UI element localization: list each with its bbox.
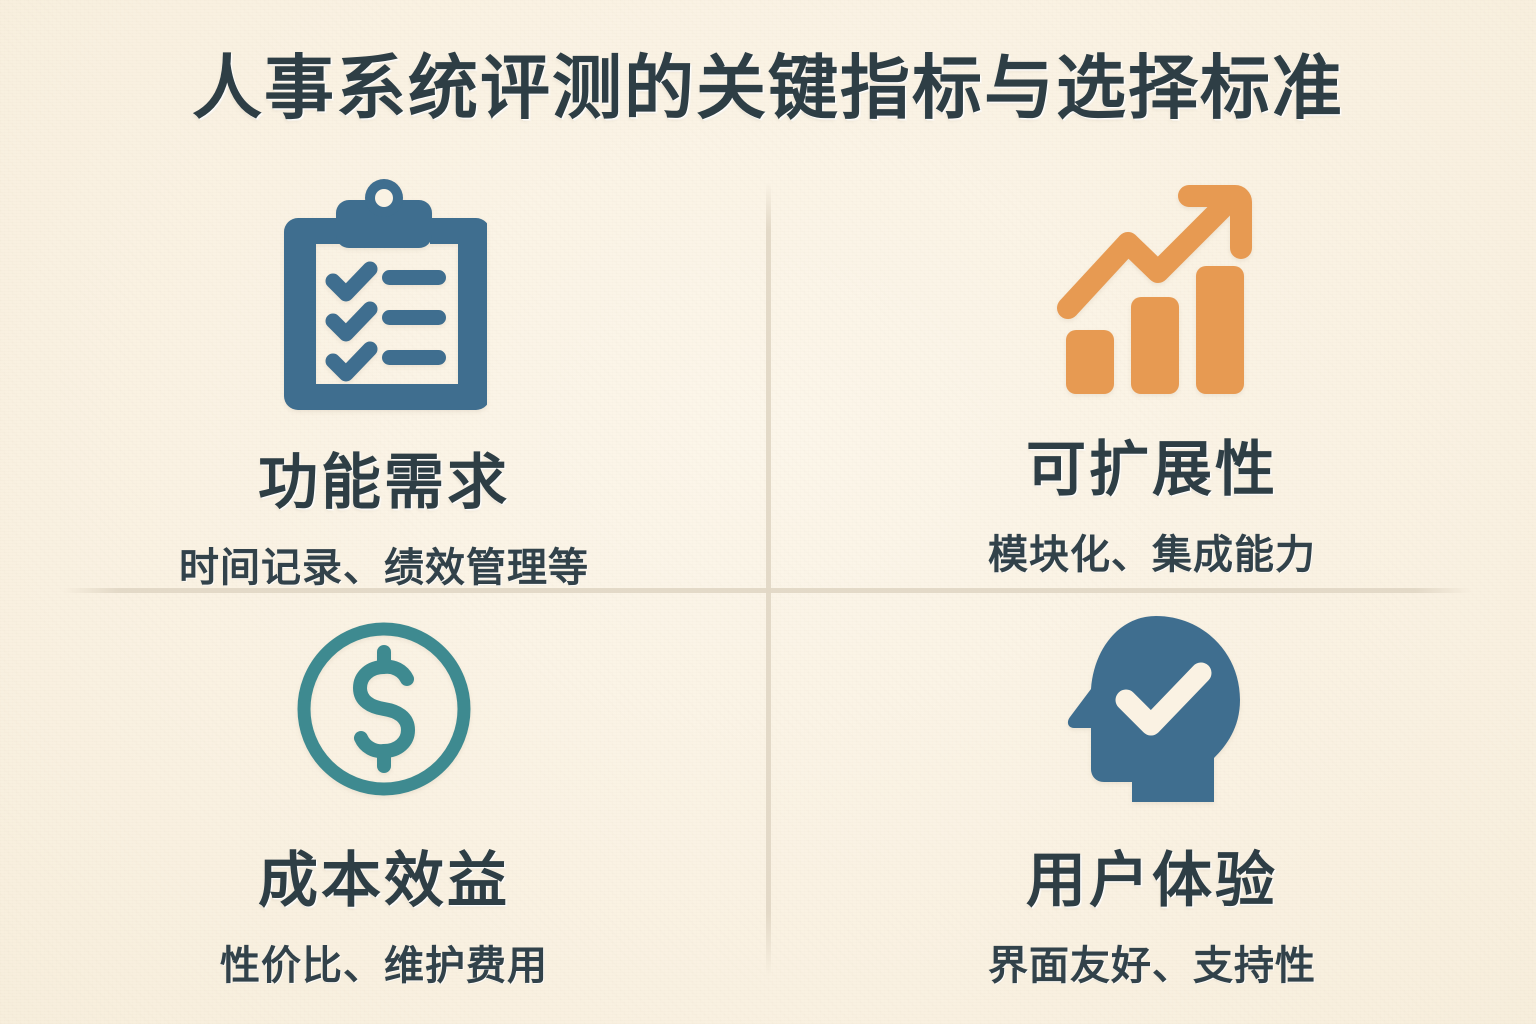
quadrant-subtitle: 性价比、维护费用 [220, 933, 548, 991]
quadrant-cost-effectiveness: 成本效益 性价比、维护费用 [0, 590, 768, 1024]
quadrant-subtitle: 界面友好、支持性 [988, 933, 1316, 991]
growth-bar-chart-arrow-icon [1052, 182, 1252, 397]
quadrant-scalability: 可扩展性 模块化、集成能力 [768, 168, 1536, 590]
infographic-poster: 人事系统评测的关键指标与选择标准 [0, 0, 1536, 1024]
clipboard-checklist-icon [281, 178, 487, 410]
page-title: 人事系统评测的关键指标与选择标准 [0, 52, 1536, 126]
quadrant-title: 功能需求 [258, 434, 510, 521]
head-profile-check-icon [1052, 610, 1252, 808]
quadrant-title: 用户体验 [1026, 832, 1278, 919]
quadrant-functional-requirements: 功能需求 时间记录、绩效管理等 [0, 168, 768, 590]
quadrant-title: 可扩展性 [1026, 421, 1278, 508]
dollar-circle-icon [291, 616, 477, 802]
quadrant-grid: 功能需求 时间记录、绩效管理等 可扩展性 模块化、集成能力 [0, 168, 1536, 1024]
quadrant-title: 成本效益 [258, 832, 510, 919]
quadrant-subtitle: 时间记录、绩效管理等 [179, 535, 589, 593]
quadrant-subtitle: 模块化、集成能力 [988, 522, 1316, 580]
quadrant-user-experience: 用户体验 界面友好、支持性 [768, 590, 1536, 1024]
